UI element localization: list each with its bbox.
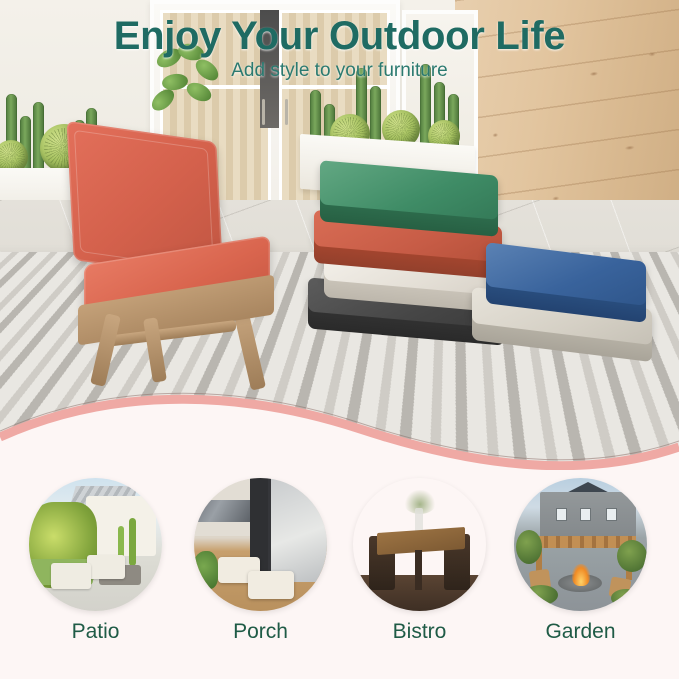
patio-thumbnail[interactable] [29,478,162,611]
swivel-lounge-chair [62,132,304,382]
door-handle-right [285,99,288,125]
page-title: Enjoy Your Outdoor Life [0,14,679,59]
category-label: Bistro [353,620,486,644]
page-subtitle: Add style to your furniture [0,60,679,82]
category-bistro[interactable]: Bistro [353,478,486,644]
category-patio[interactable]: Patio [29,478,162,644]
bistro-thumbnail[interactable] [353,478,486,611]
category-garden[interactable]: Garden [514,478,647,644]
category-label: Patio [29,620,162,644]
cushion-blue [486,242,646,306]
cushion-pair [478,252,668,348]
category-label: Porch [194,620,327,644]
category-section: Patio Porch Bistro [0,470,679,679]
cushion-green [320,160,498,220]
product-banner: Enjoy Your Outdoor Life Add style to you… [0,0,679,679]
category-row: Patio Porch Bistro [0,478,679,678]
category-porch[interactable]: Porch [194,478,327,644]
porch-thumbnail[interactable] [194,478,327,611]
category-label: Garden [514,620,647,644]
door-handle-left [262,99,265,125]
garden-thumbnail[interactable] [514,478,647,611]
